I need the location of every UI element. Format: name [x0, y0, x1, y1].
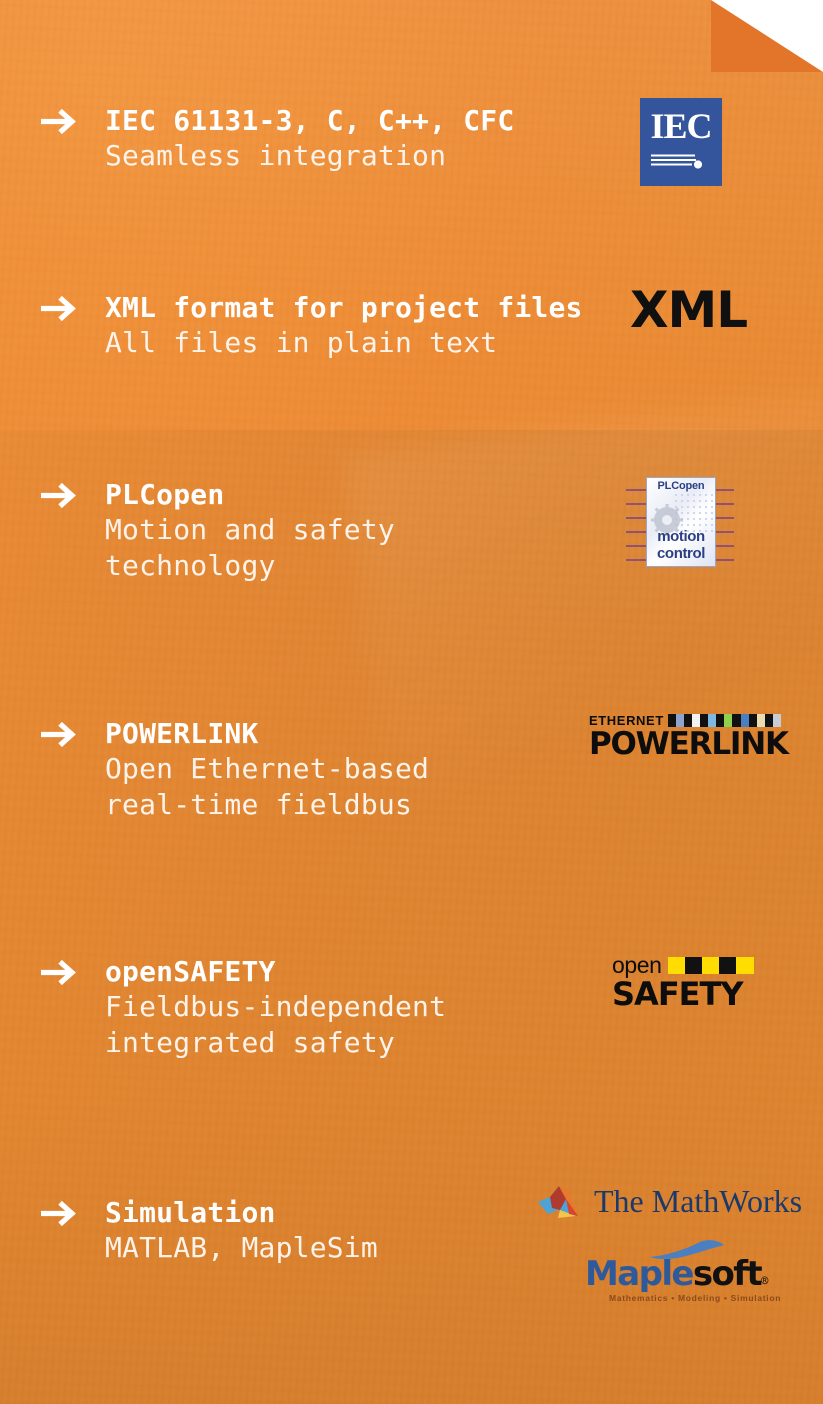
- list-item-text: Simulation MATLAB, MapleSim: [105, 1196, 565, 1266]
- feature-list: IEC 61131-3, C, C++, CFC Seamless integr…: [0, 0, 823, 1404]
- arrow-right-icon: [41, 109, 81, 135]
- arrow-right-icon: [41, 296, 81, 322]
- opensafety-bar-segment: [719, 957, 736, 974]
- list-item-subtitle: real-time fieldbus: [105, 787, 565, 823]
- opensafety-logo-line1: open: [612, 954, 662, 977]
- xml-logo-text: XML: [630, 284, 747, 336]
- xml-logo: XML: [630, 284, 747, 336]
- list-item-text: openSAFETY Fieldbus-independent integrat…: [105, 955, 565, 1061]
- list-item-title: PLCopen: [105, 478, 565, 512]
- maplesoft-registered-mark: ®: [761, 1274, 768, 1288]
- arrow-right-icon: [41, 1201, 81, 1227]
- plcopen-logo-line1: PLCopen: [647, 480, 715, 492]
- matlab-membrane-icon: [536, 1180, 588, 1222]
- list-item-title: openSAFETY: [105, 955, 565, 989]
- list-item-subtitle: Seamless integration: [105, 138, 565, 174]
- maplesoft-logo: Maple soft ® Mathematics • Modeling • Si…: [585, 1256, 760, 1304]
- opensafety-bar-segment: [668, 957, 685, 974]
- opensafety-color-bar: [668, 957, 754, 974]
- maplesoft-logo-part2: soft: [693, 1256, 761, 1292]
- list-item-subtitle: Open Ethernet-based: [105, 751, 565, 787]
- opensafety-logo-line2: SAFETY: [612, 977, 762, 1011]
- opensafety-bar-segment: [685, 957, 702, 974]
- list-item-title: IEC 61131-3, C, C++, CFC: [105, 104, 565, 138]
- list-item-title: XML format for project files: [105, 291, 565, 325]
- maplesoft-tagline: Mathematics • Modeling • Simulation: [609, 1293, 760, 1304]
- plcopen-logo: PLCopen motion control: [622, 474, 738, 570]
- list-item-subtitle: Motion and safety: [105, 512, 565, 548]
- list-item-text: PLCopen Motion and safety technology: [105, 478, 565, 584]
- mathworks-logo: The MathWorks: [536, 1180, 794, 1222]
- opensafety-bar-segment: [736, 957, 753, 974]
- arrow-right-icon: [41, 960, 81, 986]
- list-item-text: POWERLINK Open Ethernet-based real-time …: [105, 717, 565, 823]
- opensafety-logo: open SAFETY: [612, 953, 762, 1011]
- slide-root: IEC 61131-3, C, C++, CFC Seamless integr…: [0, 0, 823, 1404]
- list-item-text: XML format for project files All files i…: [105, 291, 565, 361]
- iec-logo-lines-icon: [651, 153, 703, 171]
- powerlink-logo-line2: POWERLINK: [589, 728, 781, 761]
- opensafety-bar-segment: [702, 957, 719, 974]
- mathworks-logo-text: The MathWorks: [594, 1184, 802, 1218]
- list-item-title: POWERLINK: [105, 717, 565, 751]
- list-item-subtitle: All files in plain text: [105, 325, 565, 361]
- list-item-subtitle: MATLAB, MapleSim: [105, 1230, 565, 1266]
- list-item-subtitle: integrated safety: [105, 1025, 565, 1061]
- list-item-title: Simulation: [105, 1196, 565, 1230]
- maplesoft-logo-part1: Maple: [585, 1256, 693, 1292]
- list-item-subtitle: technology: [105, 548, 565, 584]
- list-item-subtitle: Fieldbus-independent: [105, 989, 565, 1025]
- arrow-right-icon: [41, 483, 81, 509]
- list-item-text: IEC 61131-3, C, C++, CFC Seamless integr…: [105, 104, 565, 174]
- plcopen-logo-line3: control: [647, 545, 715, 562]
- ethernet-powerlink-logo: ETHERNET POWERLINK: [589, 713, 781, 761]
- arrow-right-icon: [41, 722, 81, 748]
- iec-logo-text: IEC: [640, 107, 722, 145]
- iec-logo: IEC: [640, 98, 722, 186]
- plcopen-logo-line2: motion: [647, 528, 715, 545]
- maplesoft-leaf-icon: [648, 1239, 726, 1261]
